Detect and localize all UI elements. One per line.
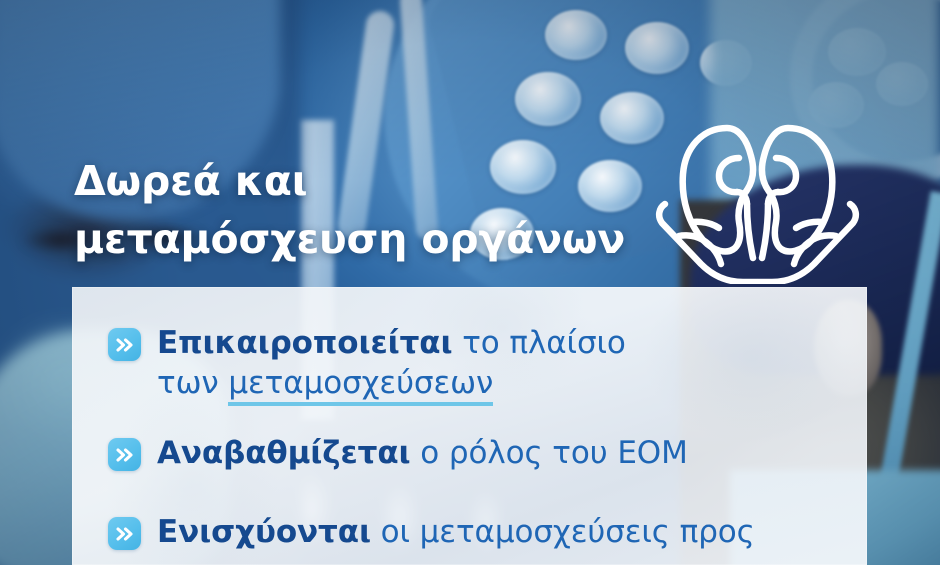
list-item: Επικαιροποιείται το πλαίσιο των μεταμοσχ… — [108, 323, 626, 404]
bullet-rest-2: ο ρόλος του ΕΟΜ — [411, 435, 688, 471]
list-item: Ενισχύονται οι μεταμοσχεύσεις προς — [108, 512, 755, 552]
bullet-line2-1: των μεταμοσχεύσεων — [157, 363, 626, 403]
bullet-text-framework: Επικαιροποιείται το πλαίσιο των μεταμοσχ… — [157, 323, 626, 404]
bullet-rest-1: το πλαίσιο — [452, 325, 625, 361]
bullet-line2-plain-1: των — [157, 365, 228, 401]
bullet-strong-1: Επικαιροποιείται — [157, 325, 452, 361]
bullet-text-eom-role: Αναβαθμίζεται ο ρόλος του ΕΟΜ — [157, 433, 688, 473]
double-chevron-right-icon — [108, 328, 141, 361]
bullet-strong-3: Ενισχύονται — [157, 514, 371, 550]
bullets-panel: Επικαιροποιείται το πλαίσιο των μεταμοσχ… — [72, 287, 867, 565]
double-chevron-right-icon — [108, 438, 141, 471]
list-item: Αναβαθμίζεται ο ρόλος του ΕΟΜ — [108, 433, 688, 473]
bullet-rest-3: οι μεταμοσχεύσεις προς — [371, 514, 755, 550]
headline-line-1: Δωρεά και — [74, 152, 694, 210]
double-chevron-right-icon — [108, 517, 141, 550]
headline-line-2: μεταμόσχευση οργάνων — [74, 210, 694, 268]
bullet-line2-underlined-1: μεταμοσχεύσεων — [228, 365, 493, 406]
bullet-text-transplants-toward: Ενισχύονται οι μεταμοσχεύσεις προς — [157, 512, 755, 552]
page-title: Δωρεά και μεταμόσχευση οργάνων — [74, 152, 694, 268]
infographic-card: Δωρεά και μεταμόσχευση οργάνων Επικαιροπ… — [0, 0, 940, 565]
bullet-strong-2: Αναβαθμίζεται — [157, 435, 411, 471]
